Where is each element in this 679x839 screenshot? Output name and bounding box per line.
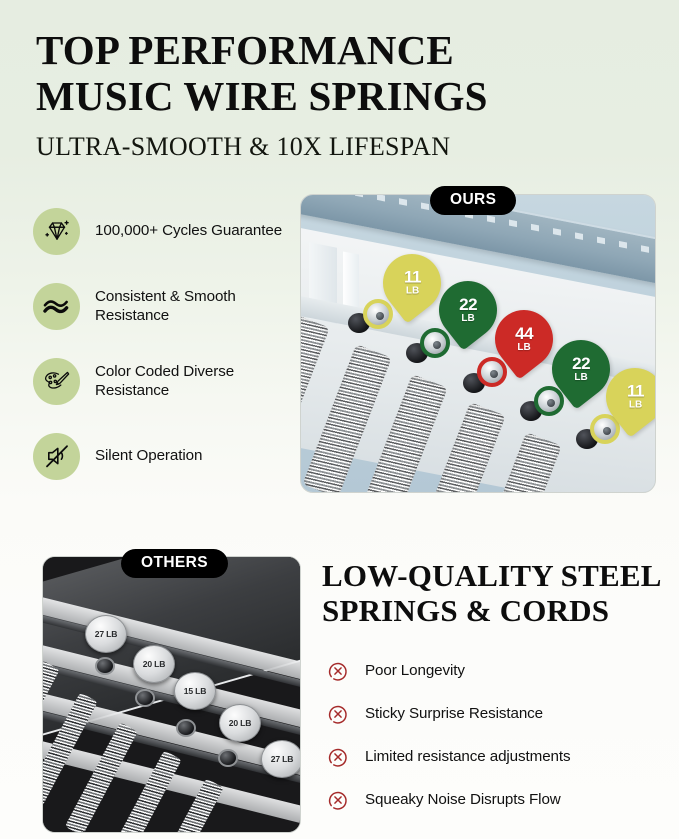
others-weight-tag: 27 LB (261, 740, 300, 778)
list-item: Color Coded Diverse Resistance (33, 350, 283, 412)
ours-scene: 11 LB 22 LB 44 LB (301, 195, 655, 492)
others-weight-tag: 20 LB (219, 704, 261, 742)
others-weight-tag: 20 LB (133, 645, 175, 683)
circle-x-icon (327, 746, 349, 768)
ours-product-image: 11 LB 22 LB 44 LB (300, 194, 656, 493)
ours-badge: OURS (430, 186, 516, 215)
headline-line-1: TOP PERFORMANCE (36, 27, 454, 73)
list-item: Sticky Surprise Resistance (327, 700, 672, 727)
list-item-label: Silent Operation (95, 446, 202, 466)
ours-weight-value: 22 (572, 356, 590, 373)
list-item: Poor Longevity (327, 657, 672, 684)
list-item: Limited resistance adjustments (327, 743, 672, 770)
others-weight-tag: 15 LB (174, 672, 216, 710)
others-badge: OTHERS (121, 549, 228, 578)
ours-weight-value: 11 (626, 384, 643, 401)
list-item-label: 100,000+ Cycles Guarantee (95, 221, 282, 241)
others-knob (218, 749, 238, 767)
page-title: TOP PERFORMANCE MUSIC WIRE SPRINGS (36, 27, 646, 119)
list-item: Silent Operation (33, 425, 283, 487)
list-item-label: Squeaky Noise Disrupts Flow (365, 791, 561, 808)
waves-icon (33, 283, 80, 330)
cons-title-line-1: LOW-QUALITY STEEL (322, 558, 662, 593)
others-knob (176, 719, 196, 737)
others-weight-label: 15 LB (184, 686, 206, 696)
others-weight-label: 20 LB (143, 659, 165, 669)
muted-speaker-icon (33, 433, 80, 480)
headline-line-2: MUSIC WIRE SPRINGS (36, 73, 646, 119)
pros-feature-list: 100,000+ Cycles Guarantee Consistent & S… (33, 200, 283, 500)
list-item-label: Color Coded Diverse Resistance (95, 362, 283, 401)
circle-x-icon (327, 660, 349, 682)
others-weight-label: 27 LB (271, 754, 293, 764)
list-item: 100,000+ Cycles Guarantee (33, 200, 283, 262)
subtitle: ULTRA-SMOOTH & 10X LIFESPAN (36, 132, 450, 162)
cons-feature-list: Poor Longevity Sticky Surprise Resistanc… (327, 657, 672, 829)
ours-weight-value: 44 (515, 326, 533, 343)
ours-weight-value: 11 (403, 270, 420, 287)
others-knob (95, 657, 115, 675)
circle-x-icon (327, 789, 349, 811)
list-item: Squeaky Noise Disrupts Flow (327, 786, 672, 813)
circle-x-icon (327, 703, 349, 725)
ours-resistance-disc (363, 299, 393, 329)
cons-title-line-2: SPRINGS & CORDS (322, 593, 609, 628)
ours-weight-unit: LB (515, 342, 533, 352)
ours-weight-unit: LB (459, 313, 477, 323)
ours-weight-value: 22 (459, 297, 477, 314)
ours-weight-unit: LB (403, 286, 420, 296)
list-item-label: Poor Longevity (365, 662, 465, 679)
ours-weight-unit: LB (626, 400, 643, 410)
list-item-label: Limited resistance adjustments (365, 748, 571, 765)
ours-resistance-disc (477, 357, 507, 387)
cons-title: LOW-QUALITY STEEL SPRINGS & CORDS (322, 558, 672, 628)
palette-icon (33, 358, 80, 405)
others-product-image: 27 LB 20 LB 15 LB 20 LB 27 LB (42, 556, 301, 833)
others-knob (135, 689, 155, 707)
list-item: Consistent & Smooth Resistance (33, 275, 283, 337)
others-weight-label: 20 LB (229, 718, 251, 728)
others-scene: 27 LB 20 LB 15 LB 20 LB 27 LB (43, 557, 300, 832)
diamond-icon (33, 208, 80, 255)
ours-resistance-disc (534, 386, 564, 416)
others-weight-tag: 27 LB (85, 615, 127, 653)
list-item-label: Consistent & Smooth Resistance (95, 287, 283, 326)
list-item-label: Sticky Surprise Resistance (365, 705, 543, 722)
ours-resistance-disc (420, 328, 450, 358)
others-weight-label: 27 LB (95, 629, 117, 639)
ours-weight-unit: LB (572, 372, 590, 382)
product-comparison-infographic: TOP PERFORMANCE MUSIC WIRE SPRINGS ULTRA… (0, 0, 679, 839)
